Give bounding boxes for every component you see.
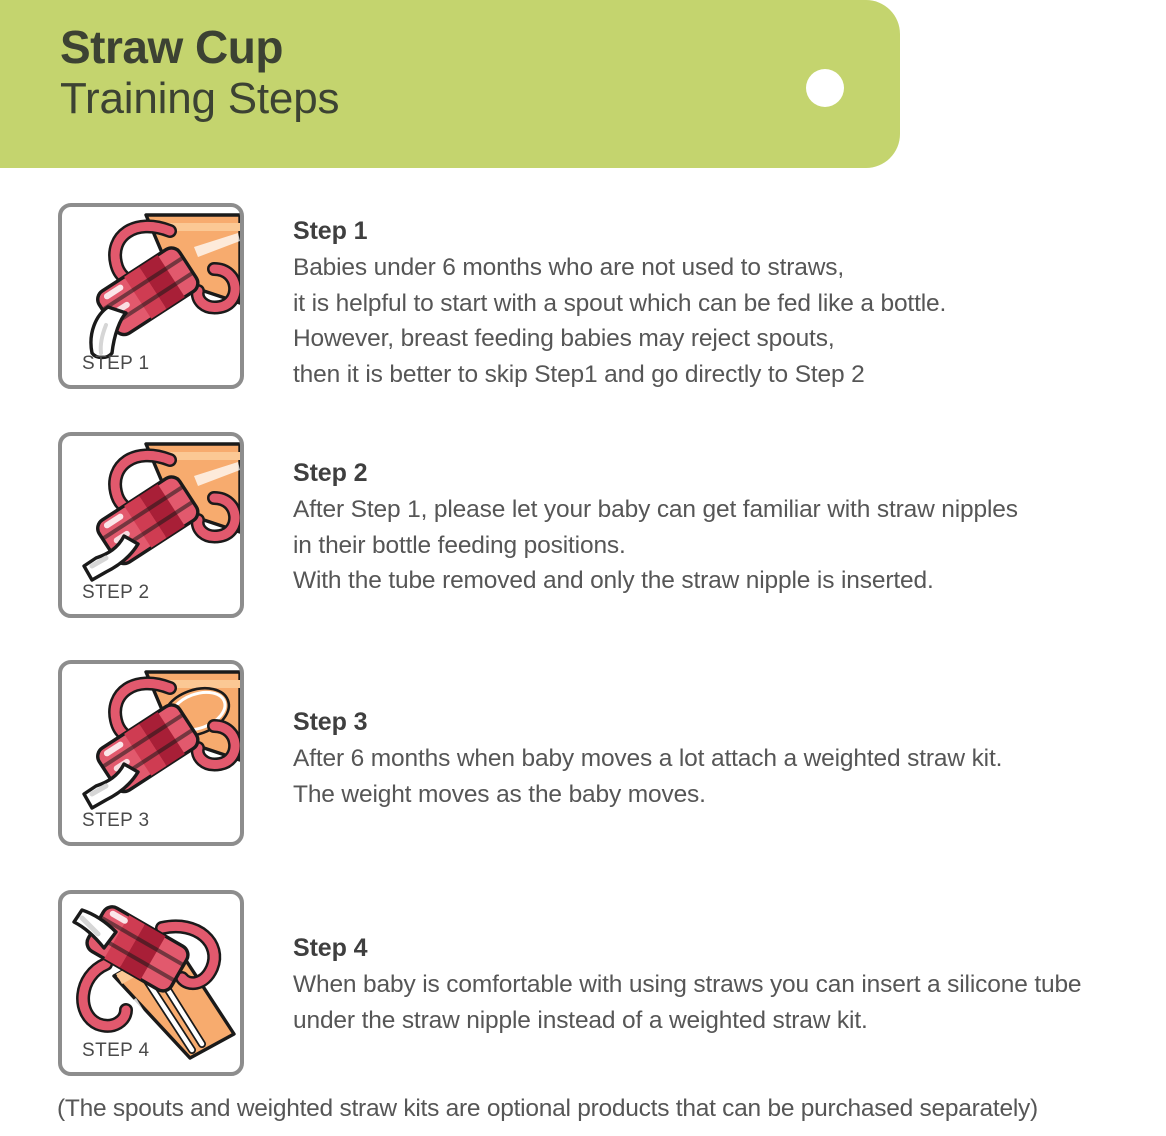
step-3-icon-box: STEP 3 (58, 660, 244, 846)
step-4-text: Step 4 When baby is comfortable with usi… (293, 932, 1153, 1038)
page-title: Straw Cup (60, 22, 339, 74)
step-2-icon-box: STEP 2 (58, 432, 244, 618)
step-4-line-1: When baby is comfortable with using stra… (293, 967, 1153, 1003)
step-2-heading: Step 2 (293, 457, 1153, 490)
step-2-body: After Step 1, please let your baby can g… (293, 492, 1153, 599)
step-1-text: Step 1 Babies under 6 months who are not… (293, 215, 1153, 392)
step-1-heading: Step 1 (293, 215, 1153, 248)
step-1-icon-box: STEP 1 (58, 203, 244, 389)
punch-hole-icon (806, 69, 844, 107)
step-4-heading: Step 4 (293, 932, 1153, 965)
step-3-body: After 6 months when baby moves a lot att… (293, 741, 1153, 812)
step-2-text: Step 2 After Step 1, please let your bab… (293, 457, 1153, 599)
step-1-line-3: However, breast feeding babies may rejec… (293, 321, 1153, 357)
banner-title-block: Straw Cup Training Steps (60, 22, 339, 123)
step-2-line-2: in their bottle feeding positions. (293, 528, 1153, 564)
step-4-body: When baby is comfortable with using stra… (293, 967, 1153, 1038)
step-1-line-4: then it is better to skip Step1 and go d… (293, 357, 1153, 393)
step-2-caption: STEP 2 (82, 583, 150, 602)
step-1-line-1: Babies under 6 months who are not used t… (293, 250, 1153, 286)
step-3-caption: STEP 3 (82, 811, 150, 830)
step-1-body: Babies under 6 months who are not used t… (293, 250, 1153, 392)
footer-note: (The spouts and weighted straw kits are … (57, 1093, 1038, 1125)
header-banner: Straw Cup Training Steps (0, 0, 900, 168)
step-3-heading: Step 3 (293, 706, 1153, 739)
step-3-text: Step 3 After 6 months when baby moves a … (293, 706, 1153, 812)
step-2-line-3: With the tube removed and only the straw… (293, 563, 1153, 599)
step-3-line-1: After 6 months when baby moves a lot att… (293, 741, 1153, 777)
step-4-line-2: under the straw nipple instead of a weig… (293, 1003, 1153, 1039)
step-3-line-2: The weight moves as the baby moves. (293, 777, 1153, 813)
page-subtitle: Training Steps (60, 74, 339, 123)
step-1-caption: STEP 1 (82, 354, 150, 373)
step-1-line-2: it is helpful to start with a spout whic… (293, 286, 1153, 322)
step-2-line-1: After Step 1, please let your baby can g… (293, 492, 1153, 528)
step-4-icon-box: STEP 4 (58, 890, 244, 1076)
step-4-caption: STEP 4 (82, 1041, 150, 1060)
